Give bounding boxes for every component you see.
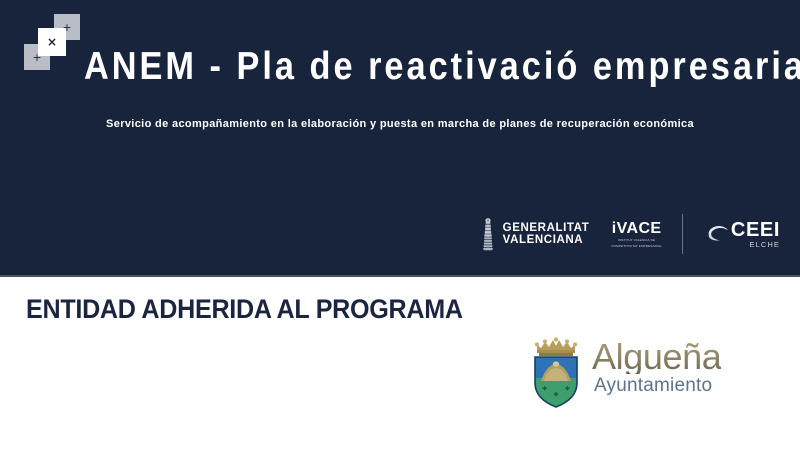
generalitat-line-1: GENERALITAT (503, 222, 590, 235)
logo-square-middle: × (38, 28, 66, 56)
alguena-text-block: Algueña Ayuntamiento (592, 340, 721, 397)
section-heading: ENTIDAD ADHERIDA AL PROGRAMA (26, 294, 463, 325)
ivace-subtitle-line-2: COMPETITIVITAT EMPRESARIAL (611, 244, 662, 248)
ivace-logo: iVACE INSTITUT VALENCIÀ DE COMPETITIVITA… (611, 220, 662, 247)
alguena-wordmark: Algueña (592, 340, 721, 374)
shield (535, 357, 577, 407)
page-subtitle: Servicio de acompañamiento en la elabora… (0, 118, 800, 130)
alguena-ayuntamiento-logo: Algueña Ayuntamiento (528, 334, 721, 410)
alguena-coat-of-arms-icon (528, 334, 584, 410)
generalitat-shield-icon (480, 217, 496, 251)
close-x-icon: × (47, 36, 57, 48)
ceei-elche-logo: CEEI ELCHE (707, 220, 780, 249)
ceei-text-stack: CEEI ELCHE (731, 220, 780, 249)
ivace-subtitle-line-1: INSTITUT VALENCIÀ DE (611, 238, 662, 242)
crown (535, 337, 577, 356)
ayuntamiento-label: Ayuntamiento (594, 375, 721, 397)
ceei-wordmark: CEEI (731, 220, 780, 240)
generalitat-line-2: VALENCIANA (503, 234, 590, 247)
header-banner: + + × ANEM - Pla de reactivació empresar… (0, 0, 800, 277)
ceei-subtitle: ELCHE (731, 241, 780, 249)
ivace-wordmark: iVACE (611, 220, 662, 237)
institutional-logos: GENERALITAT VALENCIANA iVACE INSTITUT VA… (480, 212, 780, 256)
anem-logo-mark: + + × (24, 14, 80, 70)
generalitat-valenciana-logo: GENERALITAT VALENCIANA (480, 217, 590, 251)
ceei-swoosh-icon (707, 223, 729, 247)
generalitat-logo-text: GENERALITAT VALENCIANA (503, 222, 590, 247)
presentation-slide: + + × ANEM - Pla de reactivació empresar… (0, 0, 800, 449)
page-title: ANEM - Pla de reactivació empresarial (84, 44, 691, 90)
logo-divider (682, 214, 683, 254)
